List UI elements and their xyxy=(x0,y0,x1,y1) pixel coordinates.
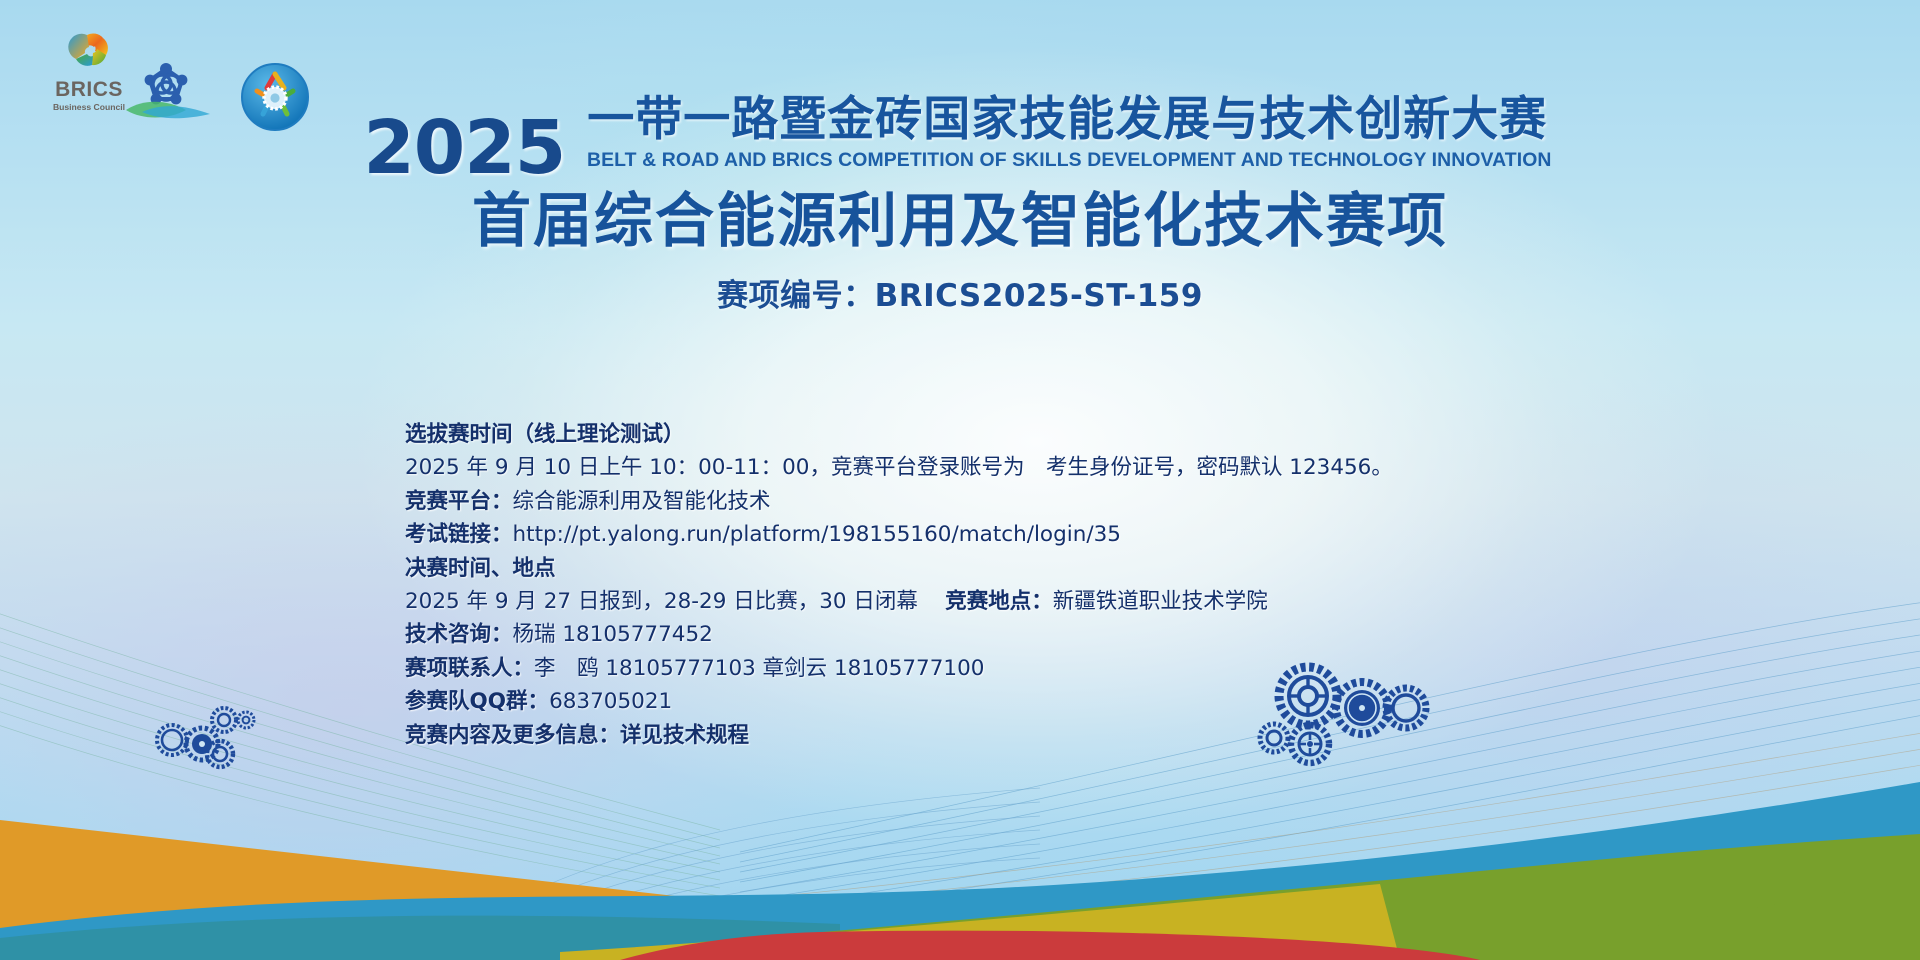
info-label-exam-link: 考试链接： xyxy=(405,522,513,547)
info-label-tech-support: 技术咨询： xyxy=(405,622,513,647)
gear-icon xyxy=(238,712,254,728)
info-label-venue: 竞赛地点： xyxy=(945,589,1053,614)
info-label-platform: 竞赛平台： xyxy=(405,489,513,514)
info-value-contacts: 李 鸥 18105777103 章剑云 18105777100 xyxy=(534,656,984,681)
info-row-tech-support: 技术咨询：杨瑞 18105777452 xyxy=(405,618,1605,651)
info-value-qq-group: 683705021 xyxy=(549,689,672,714)
info-row-exam-link: 考试链接：http://pt.yalong.run/platform/19815… xyxy=(405,518,1605,551)
poster-header: 2025 一带一路暨金砖国家技能发展与技术创新大赛 BELT & ROAD AN… xyxy=(0,96,1920,315)
gear-icon xyxy=(212,708,236,732)
info-label-contacts: 赛项联系人： xyxy=(405,656,534,681)
poster-canvas: BRICS Business Council xyxy=(0,0,1920,960)
info-value-exam-link[interactable]: http://pt.yalong.run/platform/198155160/… xyxy=(513,522,1121,547)
info-value-tech-support: 杨瑞 18105777452 xyxy=(513,622,713,647)
competition-code: 赛项编号：BRICS2025-ST-159 xyxy=(0,270,1920,315)
gear-icon xyxy=(186,728,218,760)
info-row-selection-time-value: 2025 年 9 月 10 日上午 10：00-11：00，竞赛平台登录账号为 … xyxy=(405,451,1605,484)
info-row-more-info: 竞赛内容及更多信息：详见技术规程 xyxy=(405,719,1605,752)
info-block: 选拔赛时间（线上理论测试） 2025 年 9 月 10 日上午 10：00-11… xyxy=(405,418,1605,752)
info-value-more-info: 详见技术规程 xyxy=(620,723,749,748)
bottom-wave-bands xyxy=(0,760,1920,960)
info-row-platform: 竞赛平台：综合能源利用及智能化技术 xyxy=(405,485,1605,518)
info-row-final-label: 决赛时间、地点 xyxy=(405,552,1605,585)
year-2025: 2025 xyxy=(363,118,565,179)
info-row-final-schedule: 2025 年 9 月 27 日报到，28-29 日比赛，30 日闭幕 竞赛地点：… xyxy=(405,585,1605,618)
info-row-selection-time-label: 选拔赛时间（线上理论测试） xyxy=(405,418,1605,451)
info-row-qq-group: 参赛队QQ群：683705021 xyxy=(405,685,1605,718)
info-label-more-info: 竞赛内容及更多信息： xyxy=(405,723,620,748)
competition-name-en: BELT & ROAD AND BRICS COMPETITION OF SKI… xyxy=(587,148,1552,172)
info-value-venue: 新疆铁道职业技术学院 xyxy=(1053,589,1268,614)
gear-icon xyxy=(157,725,187,755)
competition-name-cn: 一带一路暨金砖国家技能发展与技术创新大赛 xyxy=(587,96,1547,144)
info-value-platform: 综合能源利用及智能化技术 xyxy=(513,489,771,514)
page-title: 首届综合能源利用及智能化技术赛项 xyxy=(0,188,1920,254)
info-row-contacts: 赛项联系人：李 鸥 18105777103 章剑云 18105777100 xyxy=(405,652,1605,685)
info-label-qq-group: 参赛队QQ群： xyxy=(405,689,549,714)
title-line: 2025 一带一路暨金砖国家技能发展与技术创新大赛 BELT & ROAD AN… xyxy=(0,96,1920,172)
info-value-final-schedule: 2025 年 9 月 27 日报到，28-29 日比赛，30 日闭幕 xyxy=(405,589,918,614)
